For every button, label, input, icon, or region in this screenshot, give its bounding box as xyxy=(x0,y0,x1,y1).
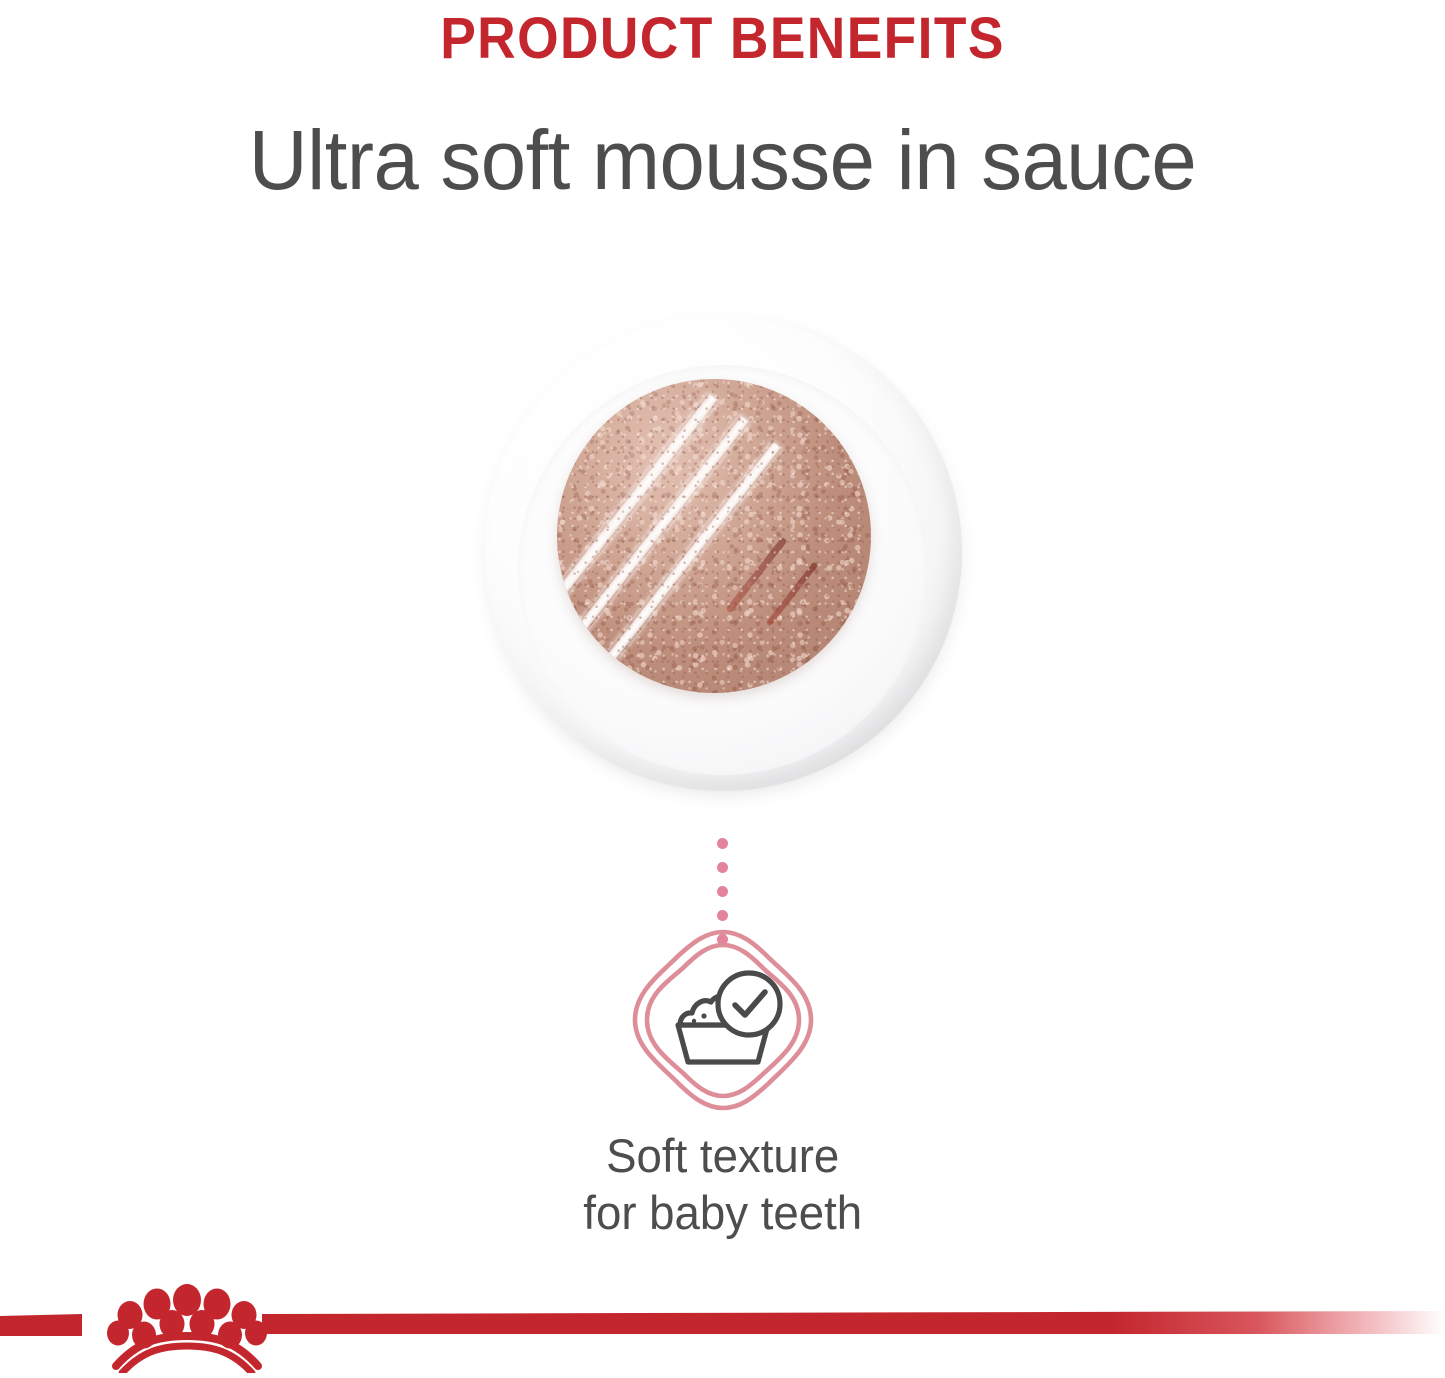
benefit-caption-line-1: Soft texture xyxy=(583,1127,862,1184)
connector-dot xyxy=(717,838,728,849)
connector-dot xyxy=(717,862,728,873)
header: PRODUCT BENEFITS Ultra soft mousse in sa… xyxy=(0,0,1445,206)
benefit-badge xyxy=(628,925,818,1115)
connector-dot xyxy=(717,886,728,897)
connector-dot xyxy=(717,910,728,921)
mousse-slice-gap xyxy=(725,537,787,614)
mousse-slice-cut xyxy=(557,415,750,682)
royal-canin-crown-logo xyxy=(100,1278,275,1373)
page-title: Ultra soft mousse in sauce xyxy=(22,70,1424,206)
footer-bar-left xyxy=(0,1314,82,1336)
mousse-slice-cut xyxy=(557,393,719,661)
mousse-disc xyxy=(557,379,871,693)
page-kicker: PRODUCT BENEFITS xyxy=(58,0,1387,70)
mousse-slice-cut xyxy=(575,441,781,693)
footer-bar-right xyxy=(262,1311,1445,1334)
food-bowl-check-icon xyxy=(628,925,818,1115)
crown-icon xyxy=(100,1278,275,1373)
benefit-caption: Soft texture for baby teeth xyxy=(583,1127,862,1241)
product-image xyxy=(0,295,1445,815)
mousse-slice-gap xyxy=(765,561,818,626)
footer-brand-bar xyxy=(0,1278,1445,1373)
benefit-caption-line-2: for baby teeth xyxy=(583,1184,862,1241)
benefit-block: Soft texture for baby teeth xyxy=(0,925,1445,1241)
